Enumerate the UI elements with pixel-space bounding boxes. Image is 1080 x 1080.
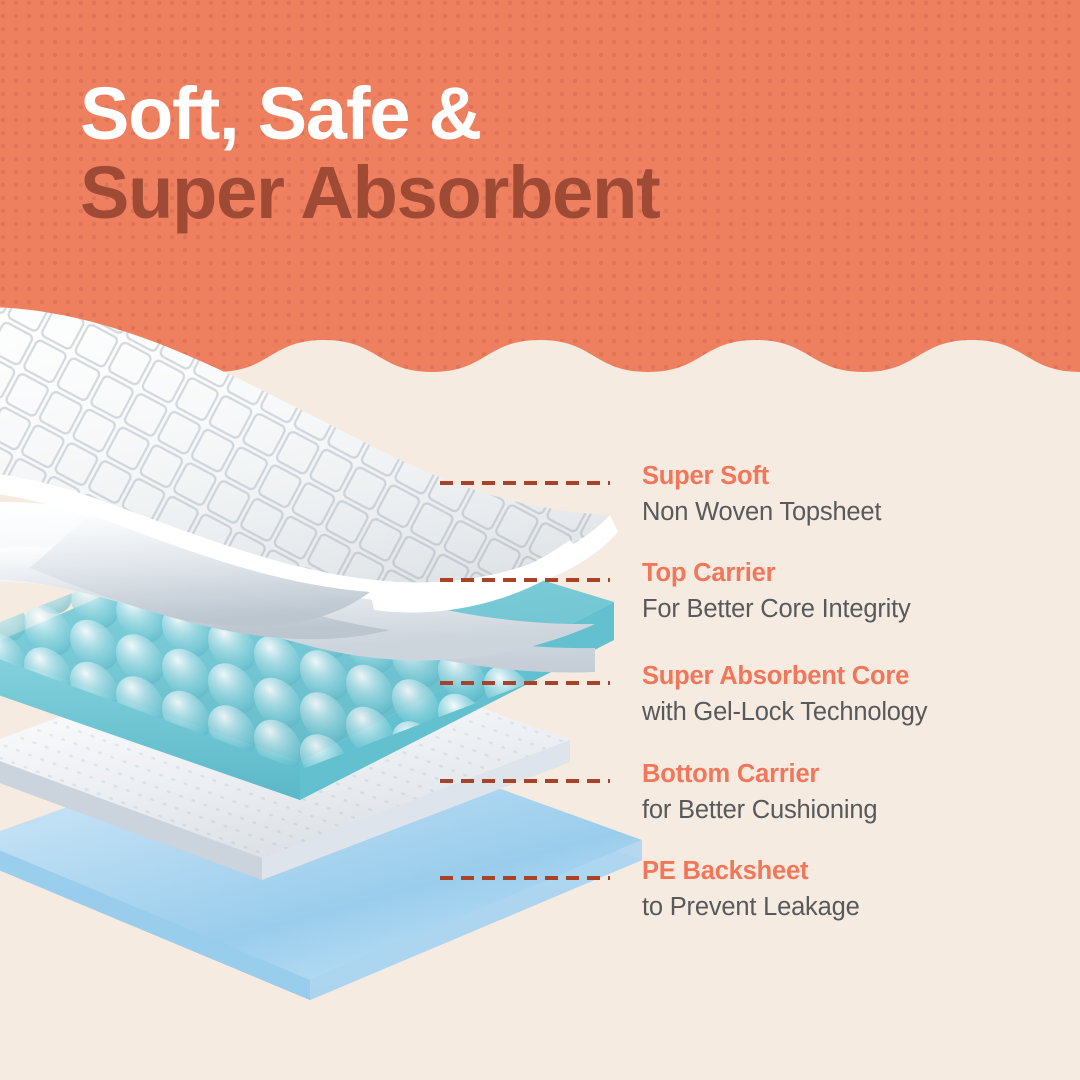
callout-text-super-soft: Super Soft Non Woven Topsheet	[642, 462, 881, 526]
callout-title-super-soft: Super Soft	[642, 462, 881, 491]
callout-absorbent-core: Super Absorbent Core with Gel-Lock Techn…	[440, 662, 927, 726]
callout-subtitle-pe-backsheet: to Prevent Leakage	[642, 893, 860, 922]
callout-title-pe-backsheet: PE Backsheet	[642, 857, 860, 886]
callout-pe-backsheet: PE Backsheet to Prevent Leakage	[440, 857, 860, 921]
leader-line-top-carrier	[440, 578, 610, 582]
callout-text-bottom-carrier: Bottom Carrier for Better Cushioning	[642, 760, 877, 824]
callout-text-absorbent-core: Super Absorbent Core with Gel-Lock Techn…	[642, 662, 927, 726]
infographic-canvas: Soft, Safe & Super Absorbent	[0, 0, 1080, 1080]
callout-subtitle-absorbent-core: with Gel-Lock Technology	[642, 698, 927, 727]
leader-line-pe-backsheet	[440, 876, 610, 880]
callout-title-absorbent-core: Super Absorbent Core	[642, 662, 927, 691]
callout-bottom-carrier: Bottom Carrier for Better Cushioning	[440, 760, 877, 824]
callout-subtitle-super-soft: Non Woven Topsheet	[642, 498, 881, 527]
callout-super-soft: Super Soft Non Woven Topsheet	[440, 462, 881, 526]
callout-top-carrier: Top Carrier For Better Core Integrity	[440, 559, 911, 623]
leader-line-absorbent-core	[440, 681, 610, 685]
callout-text-top-carrier: Top Carrier For Better Core Integrity	[642, 559, 911, 623]
callout-title-top-carrier: Top Carrier	[642, 559, 911, 588]
callout-text-pe-backsheet: PE Backsheet to Prevent Leakage	[642, 857, 860, 921]
leader-line-bottom-carrier	[440, 779, 610, 783]
callout-subtitle-bottom-carrier: for Better Cushioning	[642, 796, 877, 825]
callout-subtitle-top-carrier: For Better Core Integrity	[642, 595, 911, 624]
callout-title-bottom-carrier: Bottom Carrier	[642, 760, 877, 789]
callout-list: Super Soft Non Woven Topsheet Top Carrie…	[0, 0, 1080, 1080]
leader-line-super-soft	[440, 481, 610, 485]
